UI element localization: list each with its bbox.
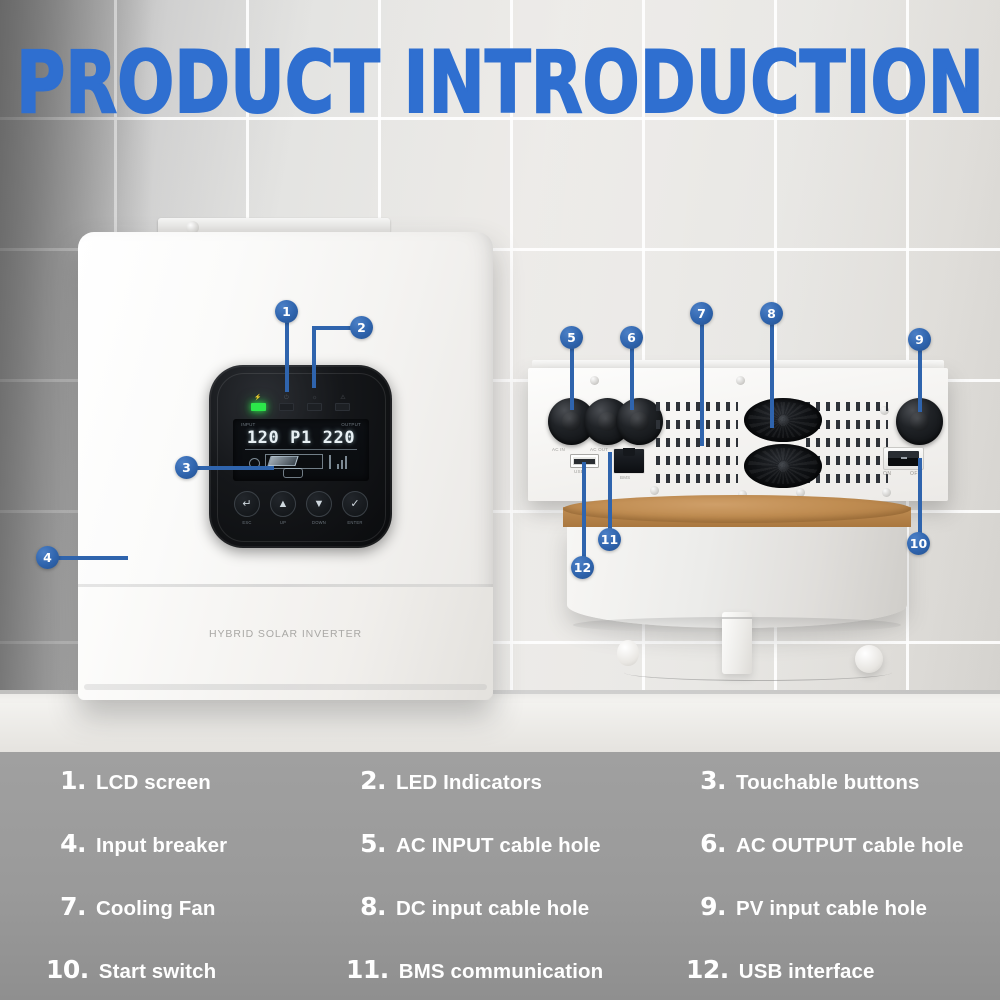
front-glass-panel: ⚡ ⏻ ☼ ⚠: [209, 365, 392, 548]
callout-badge-5[interactable]: 5: [560, 326, 583, 349]
led-icon-chg: ⏻: [284, 395, 289, 401]
touch-button-enter[interactable]: ✓ ENTER: [341, 491, 369, 525]
product-introduction-page: PRODUCT INTRODUCTION HYBRID SOLAR INVERT…: [0, 0, 1000, 1000]
legend-item-6: 6. AC OUTPUT cable hole: [686, 829, 986, 892]
led-indicator-fault: ⚠: [335, 389, 351, 411]
decor-wire-prop: [624, 664, 892, 681]
rear-panel-face: AC IN AC OUT DC IN PV IN: [528, 368, 948, 501]
legend-item-3: 3. Touchable buttons: [686, 766, 986, 829]
counter-front-face: [0, 703, 1000, 752]
callout-leader-4: [58, 556, 128, 560]
legend-number: 1.: [46, 766, 96, 795]
vent-grille: [656, 402, 738, 411]
legend-label: Input breaker: [96, 834, 227, 858]
lcd-reading: 120 P1 220: [233, 428, 369, 448]
legend-number: 3.: [686, 766, 736, 795]
callout-leader-7: [700, 320, 704, 446]
callout-badge-11[interactable]: 11: [598, 528, 621, 551]
gland-label-ac-in: AC IN: [552, 447, 565, 452]
load-bars-icon: [337, 455, 351, 469]
inverter-rear-panel: AC IN AC OUT DC IN PV IN: [528, 368, 948, 501]
led-lamp: [307, 403, 322, 411]
page-title: PRODUCT INTRODUCTION: [8, 34, 992, 130]
touch-button-label: ESC: [242, 520, 251, 525]
legend-label: AC OUTPUT cable hole: [736, 834, 964, 858]
legend-label: Start switch: [99, 960, 216, 984]
housing-seam: [78, 584, 493, 587]
led-indicator-row: ⚡ ⏻ ☼ ⚠: [250, 389, 351, 411]
legend-label: PV input cable hole: [736, 897, 927, 921]
led-lamp: [279, 403, 294, 411]
callout-leader-8: [770, 320, 774, 428]
panel-screw-icon: [650, 486, 659, 495]
touch-button-label: ENTER: [347, 520, 362, 525]
panel-screw-icon: [590, 376, 599, 385]
cooling-fan-upper: [744, 398, 822, 442]
led-icon-acinv: ⚡: [254, 395, 261, 401]
decor-egg-prop: [617, 640, 639, 666]
legend-item-8: 8. DC input cable hole: [346, 892, 686, 955]
esc-icon: ↵: [234, 491, 260, 517]
led-icon-fault: ⚠: [340, 395, 345, 401]
panel-screw-icon: [736, 376, 745, 385]
lcd-tag-row: INPUT OUTPUT: [241, 422, 361, 427]
touch-button-up[interactable]: ▲ UP: [269, 491, 297, 525]
legend-number: 12.: [686, 955, 739, 984]
led-indicator-pv: ☼: [307, 389, 323, 411]
led-indicator-acinv: ⚡: [250, 389, 266, 411]
product-photo-scene: PRODUCT INTRODUCTION HYBRID SOLAR INVERT…: [0, 0, 1000, 752]
gland-label-ac-out: AC OUT: [590, 447, 608, 452]
callout-leader-9: [918, 346, 922, 412]
decor-cylinder-prop: [722, 612, 752, 674]
vent-grille: [656, 420, 738, 429]
battery-icon: [283, 468, 303, 478]
cooling-fan-lower: [744, 444, 822, 488]
lcd-flow-diagram: [245, 452, 357, 478]
led-lamp: [335, 403, 350, 411]
chevron-down-icon: ▼: [306, 491, 332, 517]
touch-button-label: UP: [280, 520, 286, 525]
legend-number: 8.: [346, 892, 396, 921]
vent-grille: [656, 474, 738, 483]
decor-sphere-prop: [855, 645, 883, 673]
legend-label: Touchable buttons: [736, 771, 920, 795]
callout-leader-6: [630, 344, 634, 410]
legend-number: 7.: [46, 892, 96, 921]
legend-item-12: 12. USB interface: [686, 955, 986, 1000]
bms-communication-port[interactable]: [613, 448, 645, 474]
lcd-divider: [245, 449, 357, 450]
legend-item-4: 4. Input breaker: [46, 829, 346, 892]
vent-grille: [806, 438, 888, 447]
legend-label: LCD screen: [96, 771, 211, 795]
led-indicator-chg: ⏻: [278, 389, 294, 411]
callout-badge-10[interactable]: 10: [907, 532, 930, 555]
legend-label: USB interface: [739, 960, 875, 984]
callout-badge-9[interactable]: 9: [908, 328, 931, 351]
legend-number: 5.: [346, 829, 396, 858]
check-icon: ✓: [342, 491, 368, 517]
led-icon-pv: ☼: [312, 395, 318, 401]
housing-foot-line: [84, 684, 487, 690]
touch-button-esc[interactable]: ↵ ESC: [233, 491, 261, 525]
callout-badge-3[interactable]: 3: [175, 456, 198, 479]
pv-array-icon: [267, 456, 298, 466]
legend-label: LED Indicators: [396, 771, 542, 795]
callout-leader-1: [285, 318, 289, 392]
bms-port-label: BMS: [620, 475, 630, 480]
chevron-up-icon: ▲: [270, 491, 296, 517]
legend-number: 9.: [686, 892, 736, 921]
callout-badge-8[interactable]: 8: [760, 302, 783, 325]
legend-item-10: 10. Start switch: [46, 955, 346, 1000]
legend-grid: 1. LCD screen 2. LED Indicators 3. Touch…: [46, 766, 990, 1000]
legend-label: Cooling Fan: [96, 897, 216, 921]
vent-grille: [656, 438, 738, 447]
legend-item-9: 9. PV input cable hole: [686, 892, 986, 955]
callout-badge-1[interactable]: 1: [275, 300, 298, 323]
lcd-tag-input: INPUT: [241, 422, 256, 427]
legend-label: AC INPUT cable hole: [396, 834, 601, 858]
legend-item-11: 11. BMS communication: [346, 955, 686, 1000]
switch-label-on: ON: [883, 471, 892, 477]
legend-item-1: 1. LCD screen: [46, 766, 346, 829]
lcd-tag-output: OUTPUT: [341, 422, 361, 427]
touch-button-down[interactable]: ▼ DOWN: [305, 491, 333, 525]
callout-badge-2[interactable]: 2: [350, 316, 373, 339]
legend-item-7: 7. Cooling Fan: [46, 892, 346, 955]
legend-number: 10.: [46, 955, 99, 984]
legend-panel: 1. LCD screen 2. LED Indicators 3. Touch…: [0, 752, 1000, 1000]
legend-item-2: 2. LED Indicators: [346, 766, 686, 829]
legend-number: 11.: [346, 955, 399, 984]
legend-label: BMS communication: [399, 960, 603, 984]
legend-number: 6.: [686, 829, 736, 858]
touch-button-row[interactable]: ↵ ESC ▲ UP ▼ DOWN ✓ ENTER: [233, 491, 369, 525]
led-lamp: [251, 403, 266, 411]
vent-grille: [806, 402, 888, 411]
callout-badge-12[interactable]: 12: [571, 556, 594, 579]
callout-leader-10: [918, 458, 922, 540]
callout-badge-7[interactable]: 7: [690, 302, 713, 325]
lcd-screen: INPUT OUTPUT 120 P1 220: [233, 419, 369, 481]
legend-item-5: 5. AC INPUT cable hole: [346, 829, 686, 892]
legend-label: DC input cable hole: [396, 897, 589, 921]
callout-badge-4[interactable]: 4: [36, 546, 59, 569]
callout-leader-3: [196, 466, 274, 470]
pedestal-cork-top: [563, 495, 911, 523]
callout-badge-6[interactable]: 6: [620, 326, 643, 349]
callout-leader-2b: [312, 326, 316, 388]
brand-label: HYBRID SOLAR INVERTER: [78, 628, 493, 640]
callout-leader-11: [608, 452, 612, 534]
callout-leader-5: [570, 344, 574, 410]
ac-line-icon: [329, 455, 331, 469]
page-title-text: PRODUCT INTRODUCTION: [16, 34, 984, 130]
touch-button-label: DOWN: [312, 520, 326, 525]
callout-leader-12: [582, 462, 586, 560]
legend-number: 2.: [346, 766, 396, 795]
legend-number: 4.: [46, 829, 96, 858]
vent-grille: [656, 456, 738, 465]
